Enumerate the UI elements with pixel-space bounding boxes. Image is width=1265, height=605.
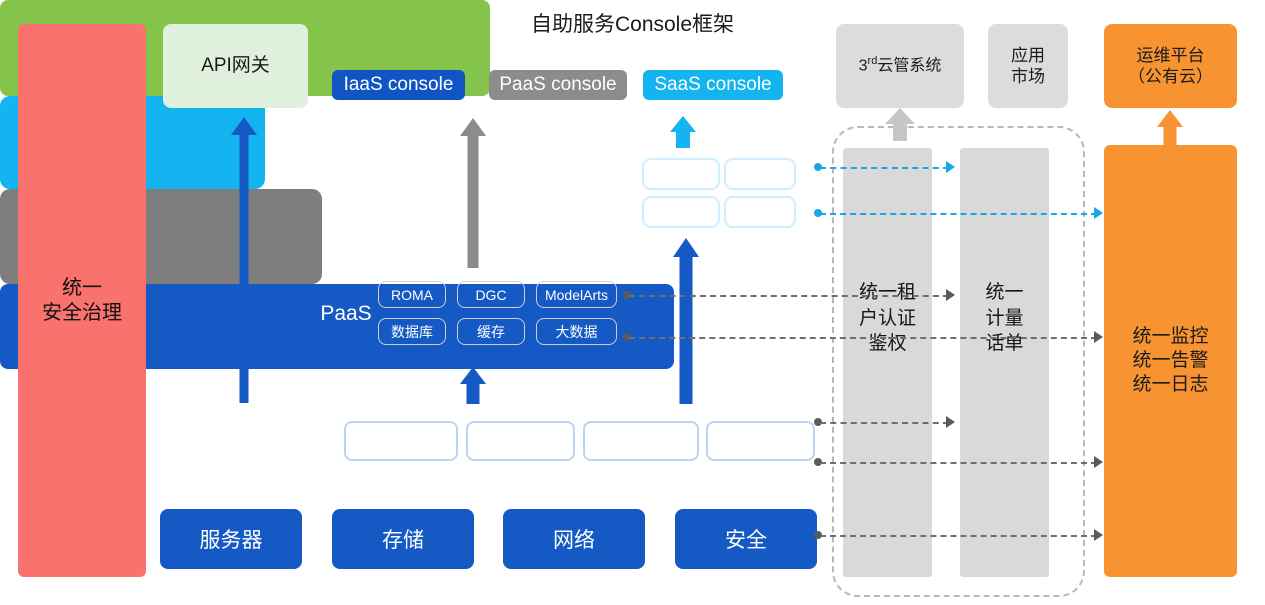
metering-line3: 话单 <box>960 331 1049 357</box>
console-framework-title: 自助服务Console框架 <box>0 8 1265 38</box>
connector-saas-to-auth <box>820 167 949 169</box>
arrow-infra-to-saas <box>673 238 699 404</box>
ops-platform-public-cloud-box: 运维平台 （公有云） <box>1104 24 1237 108</box>
paas-chip-bigdata[interactable]: 大数据 <box>536 318 617 345</box>
saas-chip-desktop-label: 桌面云 <box>735 200 786 225</box>
third-party-superscript: rd <box>868 55 878 67</box>
security-line1: 统一 <box>42 276 122 301</box>
infra-chip-network[interactable]: Network <box>583 421 699 461</box>
paas-chip-modelarts-label: ModelArts <box>545 287 608 303</box>
paas-chip-cache[interactable]: 缓存 <box>457 318 525 345</box>
connector-arrowhead-paas-ops <box>1094 331 1103 343</box>
arrow-infra-to-api-gateway <box>231 117 257 403</box>
connector-arrowhead-hardware-ops <box>1094 529 1103 541</box>
api-gateway-label: API网关 <box>201 54 270 78</box>
unified-security-governance-label: 统一 安全治理 <box>42 276 122 326</box>
infra-chip-compute[interactable]: Compute <box>344 421 458 461</box>
paas-chip-cache-label: 缓存 <box>477 322 505 342</box>
saas-chip-video-label: 视频云 <box>656 200 707 225</box>
ops-column-label: 统一监控 统一告警 统一日志 <box>1132 325 1208 396</box>
saas-chip-iot[interactable]: IoT <box>724 158 796 190</box>
paas-chip-database[interactable]: 数据库 <box>378 318 446 345</box>
paas-chip-database-label: 数据库 <box>391 322 433 342</box>
saas-label: SaaS <box>563 175 625 199</box>
ops-platform-top-label: 运维平台 （公有云） <box>1128 45 1213 88</box>
saas-chip-blockchain[interactable]: 区块链 <box>642 158 720 190</box>
unified-security-governance-column: 统一 安全治理 <box>18 24 146 577</box>
hardware-storage-label: 存储 <box>382 524 424 554</box>
hardware-server-label: 服务器 <box>200 524 263 554</box>
app-market-line2: 市场 <box>1011 66 1045 87</box>
security-line2: 安全治理 <box>42 301 122 326</box>
infra-chip-cce[interactable]: CCE <box>706 421 815 461</box>
connector-arrowhead-infra-ops <box>1094 456 1103 468</box>
infra-chip-cce-label: CCE <box>739 430 781 453</box>
paas-chip-roma[interactable]: ROMA <box>378 281 446 308</box>
connector-arrowhead-infra-auth <box>946 416 955 428</box>
paas-chip-dgc[interactable]: DGC <box>457 281 525 308</box>
connector-arrowhead-saas-auth <box>946 161 955 173</box>
saas-chip-blockchain-label: 区块链 <box>656 162 707 187</box>
connector-infra-to-auth <box>820 422 949 424</box>
ops-top-line1: 运维平台 <box>1128 45 1213 66</box>
hardware-box-server: 服务器 <box>160 509 302 569</box>
paas-chip-bigdata-label: 大数据 <box>556 322 598 342</box>
paas-chip-modelarts[interactable]: ModelArts <box>536 281 617 308</box>
hardware-box-network: 网络 <box>503 509 645 569</box>
iaas-console-label: IaaS console <box>344 74 454 96</box>
metering-line2: 计量 <box>960 306 1049 332</box>
paas-chip-roma-label: ROMA <box>391 287 433 303</box>
ops-monitoring-column: 统一监控 统一告警 统一日志 <box>1104 145 1237 577</box>
connector-infra-to-ops <box>820 462 1097 464</box>
metering-line1: 统一 <box>960 280 1049 306</box>
infra-chip-storage[interactable]: Storage <box>466 421 575 461</box>
unified-tenant-auth-label: 统一租 户认证 鉴权 <box>843 280 932 357</box>
paas-console-label: PaaS console <box>499 74 616 96</box>
ops-top-line2: （公有云） <box>1128 66 1213 87</box>
app-market-box: 应用 市场 <box>988 24 1068 108</box>
ops-col-line1: 统一监控 <box>1132 325 1208 349</box>
saas-console-label: SaaS console <box>654 74 771 96</box>
infra-chip-compute-label: Compute <box>360 430 441 453</box>
paas-console-chip[interactable]: PaaS console <box>489 70 627 100</box>
connector-paas-to-auth <box>629 295 949 297</box>
hardware-box-security: 安全 <box>675 509 817 569</box>
auth-line1: 统一租 <box>843 280 932 306</box>
ops-col-line3: 统一日志 <box>1132 373 1208 397</box>
infra-chip-storage-label: Storage <box>485 430 555 453</box>
app-market-line1: 应用 <box>1011 45 1045 66</box>
saas-console-chip[interactable]: SaaS console <box>643 70 783 100</box>
third-party-prefix: 3 <box>859 58 868 75</box>
third-party-cloud-management-box: 3rd云管系统 <box>836 24 964 108</box>
auth-line2: 户认证 <box>843 306 932 332</box>
saas-chip-iot-label: IoT <box>748 164 773 184</box>
iaas-console-chip[interactable]: IaaS console <box>332 70 465 100</box>
saas-chip-desktop-cloud[interactable]: 桌面云 <box>724 196 796 228</box>
arrow-shared-to-third-party <box>887 108 913 141</box>
architecture-diagram: 统一 安全治理 API网关 自助服务Console框架 IaaS console… <box>0 0 1265 605</box>
connector-saas-to-ops <box>820 213 1097 215</box>
connector-hardware-to-ops <box>820 535 1097 537</box>
third-party-rest: 云管系统 <box>877 58 941 75</box>
third-party-label: 3rd云管系统 <box>859 55 942 76</box>
ops-col-line2: 统一告警 <box>1132 349 1208 373</box>
arrow-infra-to-paas <box>460 367 486 404</box>
infrastructure-label: 统一基础设施服务 <box>172 425 344 454</box>
arrow-ops-column-to-ops-top <box>1157 110 1183 145</box>
paas-chip-dgc-label: DGC <box>475 287 506 303</box>
paas-label: PaaS <box>313 302 379 326</box>
connector-arrowhead-paas-auth <box>946 289 955 301</box>
connector-paas-to-ops <box>629 337 1097 339</box>
arrow-paas-to-console <box>460 118 486 268</box>
hardware-network-label: 网络 <box>553 524 595 554</box>
connector-arrowhead-saas-ops <box>1094 207 1103 219</box>
arrow-saas-to-console <box>670 116 696 148</box>
unified-metering-label: 统一 计量 话单 <box>960 280 1049 357</box>
hardware-security-label: 安全 <box>725 524 767 554</box>
app-market-label: 应用 市场 <box>1011 45 1045 88</box>
saas-chip-video-cloud[interactable]: 视频云 <box>642 196 720 228</box>
auth-line3: 鉴权 <box>843 331 932 357</box>
infra-chip-network-label: Network <box>604 430 677 453</box>
hardware-box-storage: 存储 <box>332 509 474 569</box>
